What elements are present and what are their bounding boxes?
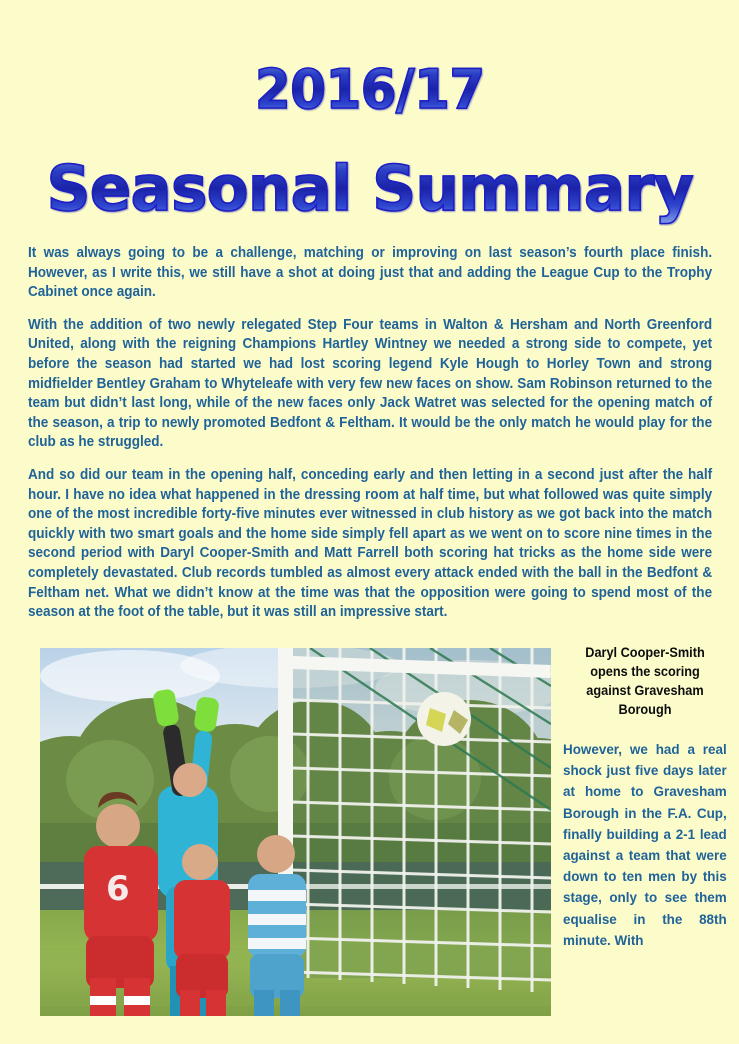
photo-illustration: 6: [40, 648, 551, 1016]
page-title-year: 2016/17: [255, 58, 485, 121]
title-year-block: 2016/17: [0, 58, 739, 121]
body-paragraph-3: And so did our team in the opening half,…: [28, 466, 712, 623]
football-match-goal-photo: 6: [40, 648, 551, 1016]
side-column: Daryl Cooper-Smith opens the scoring aga…: [563, 643, 727, 951]
document-page: 2016/17 Seasonal Summary It was always g…: [0, 0, 739, 1044]
body-paragraph-1: It was always going to be a challenge, m…: [28, 244, 712, 303]
svg-text:6: 6: [106, 869, 130, 909]
body-copy: It was always going to be a challenge, m…: [28, 244, 712, 623]
photo-caption: Daryl Cooper-Smith opens the scoring aga…: [567, 643, 723, 719]
title-main-block: Seasonal Summary: [0, 152, 739, 225]
side-column-paragraph: However, we had a real shock just five d…: [563, 739, 727, 951]
body-paragraph-2: With the addition of two newly relegated…: [28, 316, 712, 453]
page-title-main: Seasonal Summary: [46, 152, 692, 225]
